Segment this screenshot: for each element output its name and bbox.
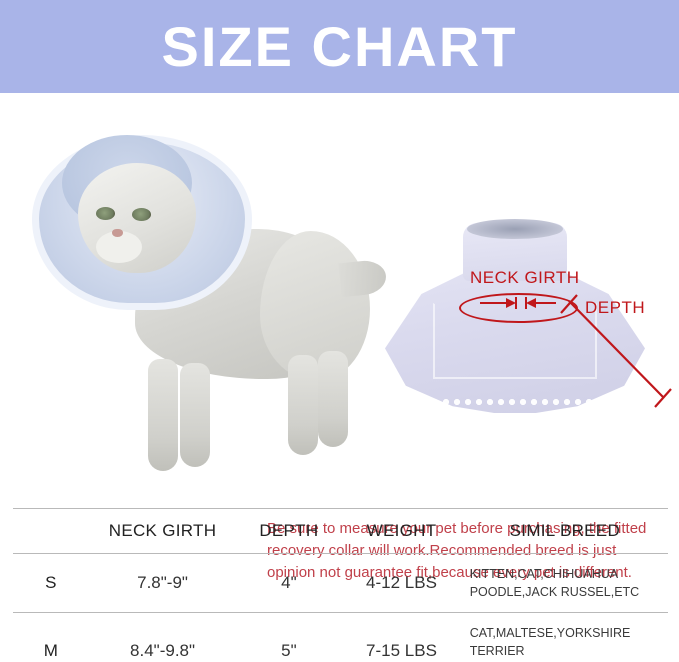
cell-simil-breed: KITTEN,CAT,CHIHUAHUA POODLE,JACK RUSSEL,…	[462, 554, 668, 613]
breed-line-1: CAT,MALTESE,YORKSHIRE TERRIER	[470, 624, 666, 660]
size-chart-page: SIZE CHART	[0, 0, 679, 662]
depth-arrow-icon	[555, 293, 679, 418]
cell-weight: 7-15 LBS	[341, 613, 461, 662]
table-row: S 7.8"-9" 4" 4-12 LBS KITTEN,CAT,CHIHUAH…	[13, 554, 668, 613]
column-header-neck-girth: NECK GIRTH	[89, 509, 237, 554]
cell-depth: 5"	[237, 613, 342, 662]
cell-weight: 4-12 LBS	[341, 554, 461, 613]
cat-wearing-collar-photo	[10, 111, 370, 491]
size-table-head: NECK GIRTH DEPTH WEIGHT SIMIL BREED	[13, 509, 668, 554]
cell-simil-breed: CAT,MALTESE,YORKSHIRE TERRIER POMERANIAN…	[462, 613, 668, 662]
cat-right-eye	[132, 208, 151, 221]
collar-neck-opening	[467, 219, 563, 239]
cat-nose	[112, 229, 123, 237]
column-header-weight: WEIGHT	[341, 509, 461, 554]
cell-depth: 4"	[237, 554, 342, 613]
header-banner: SIZE CHART	[0, 0, 679, 93]
neck-girth-arrows-icon	[478, 296, 558, 310]
column-header-size	[13, 509, 89, 554]
breed-line-2: POODLE,JACK RUSSEL,ETC	[470, 583, 666, 601]
cell-size: S	[13, 554, 89, 613]
size-table: NECK GIRTH DEPTH WEIGHT SIMIL BREED S 7.…	[13, 508, 668, 662]
column-header-simil-breed: SIMIL BREED	[462, 509, 668, 554]
size-table-body: S 7.8"-9" 4" 4-12 LBS KITTEN,CAT,CHIHUAH…	[13, 554, 668, 662]
cat-front-right-leg	[180, 363, 210, 467]
cat-back-left-leg	[288, 355, 318, 455]
table-row: M 8.4"-9.8" 5" 7-15 LBS CAT,MALTESE,YORK…	[13, 613, 668, 662]
neck-girth-annotation-label: NECK GIRTH	[470, 268, 580, 288]
breed-line-1: KITTEN,CAT,CHIHUAHUA	[470, 565, 666, 583]
cell-size: M	[13, 613, 89, 662]
cell-neck-girth: 8.4"-9.8"	[89, 613, 237, 662]
column-header-depth: DEPTH	[237, 509, 342, 554]
page-title: SIZE CHART	[162, 19, 518, 75]
table-header-row: NECK GIRTH DEPTH WEIGHT SIMIL BREED	[13, 509, 668, 554]
cat-left-eye	[96, 207, 115, 220]
cat-back-right-leg	[318, 351, 348, 447]
cell-neck-girth: 7.8"-9"	[89, 554, 237, 613]
cat-front-left-leg	[148, 359, 178, 471]
photo-area: NECK GIRTH DEPTH Be sure to measure your…	[0, 93, 679, 497]
